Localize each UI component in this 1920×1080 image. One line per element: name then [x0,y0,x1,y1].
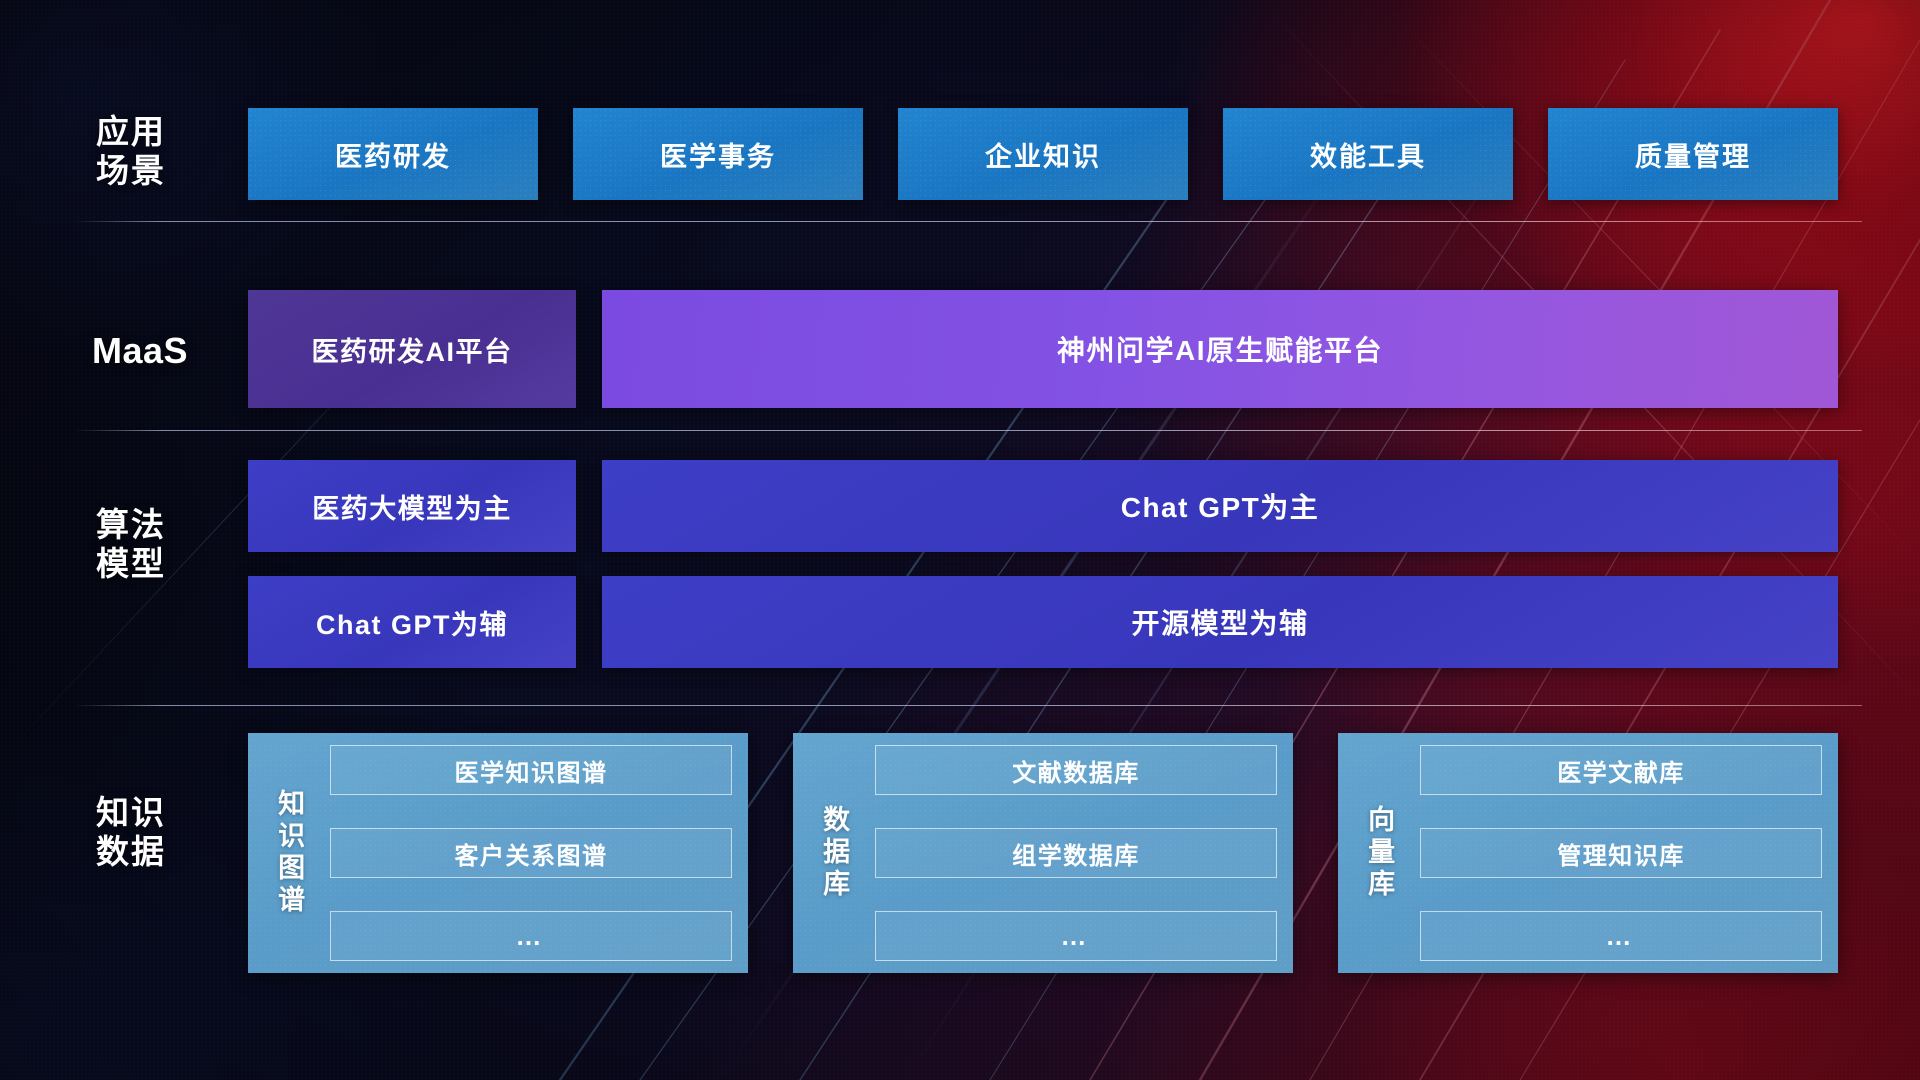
algorithm-box-chatgpt-primary[interactable]: Chat GPT为主 [602,460,1838,552]
row-label-knowledge-data: 知识 数据 [96,794,246,872]
knowledge-item-more[interactable]: … [1420,911,1822,961]
divider-line-1 [74,221,1862,222]
knowledge-card-items: 医学文献库 管理知识库 … [1420,745,1822,961]
knowledge-card-items: 医学知识图谱 客户关系图谱 … [330,745,732,961]
scenario-box-label: 企业知识 [985,135,1101,174]
scenario-box-label: 质量管理 [1635,135,1751,174]
scenario-box-label: 医药研发 [335,135,451,174]
maas-box-label: 医药研发AI平台 [312,330,513,369]
algorithm-box-label: 开源模型为辅 [1131,602,1308,642]
knowledge-card-vertical-label: 数据库 [807,745,861,961]
algorithm-box-label: Chat GPT为辅 [316,603,508,642]
knowledge-card-vertical-label: 知识图谱 [262,745,316,961]
knowledge-item-management-knowledge-store[interactable]: 管理知识库 [1420,828,1822,878]
knowledge-item-medical-knowledge-graph[interactable]: 医学知识图谱 [330,745,732,795]
knowledge-card-items: 文献数据库 组学数据库 … [875,745,1277,961]
algorithm-box-opensource-secondary[interactable]: 开源模型为辅 [602,576,1838,668]
scenario-box-enterprise-knowledge[interactable]: 企业知识 [898,108,1188,200]
maas-box-label: 神州问学AI原生赋能平台 [1057,329,1383,369]
knowledge-card-vector-store[interactable]: 向量库 医学文献库 管理知识库 … [1338,733,1838,973]
diagram-content: 应用 场景 医药研发 医学事务 企业知识 效能工具 质量管理 MaaS 医药研发… [0,0,1920,1080]
scenario-box-label: 效能工具 [1310,135,1426,174]
knowledge-item-medical-literature-store[interactable]: 医学文献库 [1420,745,1822,795]
algorithm-box-chatgpt-secondary[interactable]: Chat GPT为辅 [248,576,576,668]
knowledge-card-database[interactable]: 数据库 文献数据库 组学数据库 … [793,733,1293,973]
row-label-algorithm-model: 算法 模型 [96,506,236,584]
divider-line-2 [74,430,1862,431]
algorithm-box-label: 医药大模型为主 [312,487,512,526]
algorithm-box-medicine-large-model-primary[interactable]: 医药大模型为主 [248,460,576,552]
scenario-box-medical-affairs[interactable]: 医学事务 [573,108,863,200]
knowledge-card-vertical-label: 向量库 [1352,745,1406,961]
row-label-application-scenarios: 应用 场景 [96,113,236,191]
scenario-box-label: 医学事务 [660,135,776,174]
knowledge-item-more[interactable]: … [330,911,732,961]
divider-line-3 [74,705,1862,706]
algorithm-box-label: Chat GPT为主 [1121,486,1320,526]
knowledge-item-more[interactable]: … [875,911,1277,961]
knowledge-item-omics-database[interactable]: 组学数据库 [875,828,1277,878]
scenario-box-medicine-rd[interactable]: 医药研发 [248,108,538,200]
scenario-box-quality-management[interactable]: 质量管理 [1548,108,1838,200]
knowledge-item-customer-relation-graph[interactable]: 客户关系图谱 [330,828,732,878]
maas-box-medicine-rd-ai-platform[interactable]: 医药研发AI平台 [248,290,576,408]
scenario-box-efficiency-tools[interactable]: 效能工具 [1223,108,1513,200]
knowledge-card-knowledge-graph[interactable]: 知识图谱 医学知识图谱 客户关系图谱 … [248,733,748,973]
maas-box-shenzhou-wenxue-platform[interactable]: 神州问学AI原生赋能平台 [602,290,1838,408]
row-label-maas: MaaS [92,330,272,372]
knowledge-item-literature-database[interactable]: 文献数据库 [875,745,1277,795]
